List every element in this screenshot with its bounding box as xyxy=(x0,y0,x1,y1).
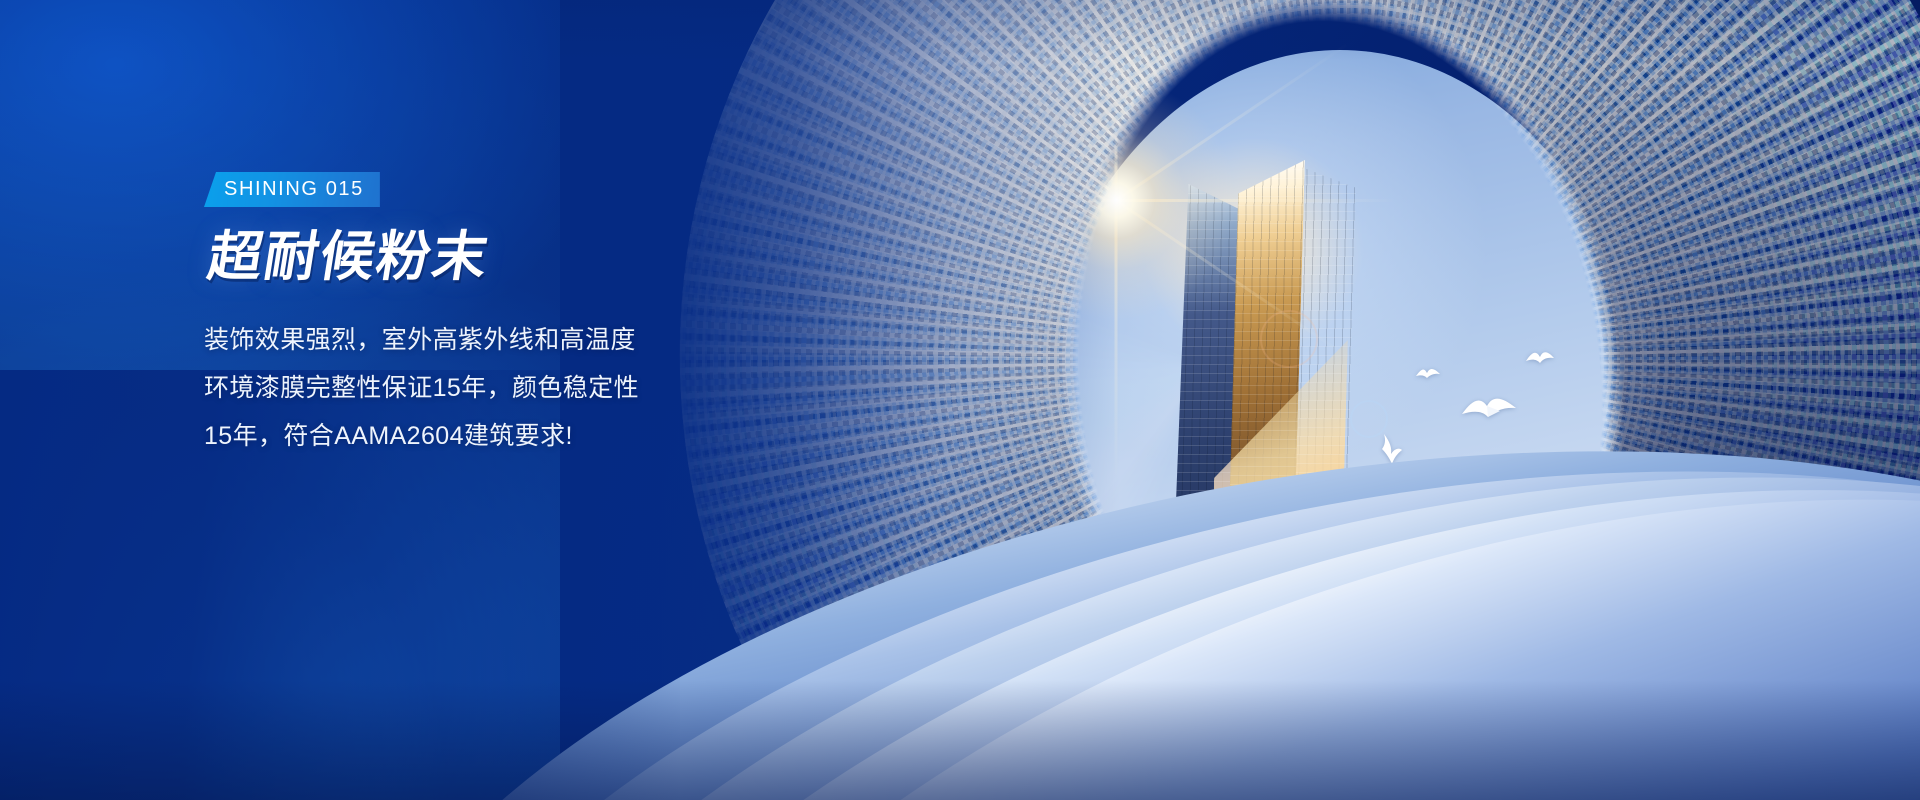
hero-description: 装饰效果强烈，室外高紫外线和高温度 环境漆膜完整性保证15年，颜色稳定性 15年… xyxy=(204,316,724,461)
wave-bottom-shade xyxy=(0,680,1920,800)
mesh-top-fade xyxy=(560,0,1920,60)
product-code-badge: SHINING 015 xyxy=(204,172,380,207)
banner-root: SHINING 015 超耐候粉末 装饰效果强烈，室外高紫外线和高温度 环境漆膜… xyxy=(0,0,1920,800)
description-line-3: 15年，符合AAMA2604建筑要求! xyxy=(204,412,724,460)
bird-3 xyxy=(1525,348,1555,366)
badge-label: SHINING 015 xyxy=(224,178,364,200)
hero-content: SHINING 015 超耐候粉末 装饰效果强烈，室外高紫外线和高温度 环境漆膜… xyxy=(204,172,764,460)
page-title: 超耐候粉末 xyxy=(204,229,773,286)
description-line-2: 环境漆膜完整性保证15年，颜色稳定性 xyxy=(204,364,724,412)
description-line-1: 装饰效果强烈，室外高紫外线和高温度 xyxy=(204,316,724,364)
